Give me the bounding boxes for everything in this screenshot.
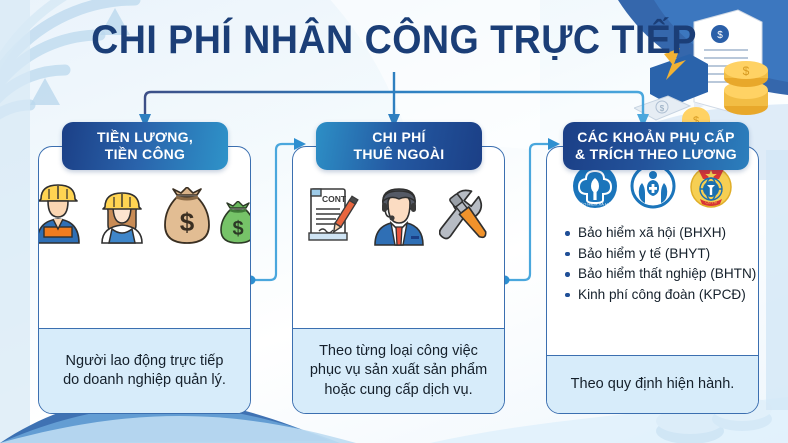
svg-text:$: $ (660, 104, 665, 113)
support-agent-icon (369, 181, 429, 247)
svg-text:BẢO HIỂM XÃ HỘI: BẢO HIỂM XÃ HỘI (577, 202, 611, 207)
card-header-phu-cap-text: CÁC KHOẢN PHỤ CẤP & TRÍCH THEO LƯƠNG (575, 129, 737, 163)
svg-text:$: $ (179, 207, 194, 237)
svg-text:CĐVN: CĐVN (705, 200, 716, 205)
list-item: Kinh phí công đoàn (KPCĐ) (565, 285, 756, 306)
card-thue-ngoai-footer: Theo từng loại công việc phục vụ sản xuấ… (293, 328, 504, 413)
card-phu-cap: BẢO HIỂM XÃ HỘI (546, 146, 759, 414)
card-header-thue-ngoai-text: CHI PHÍ THUÊ NGOÀI (354, 129, 445, 163)
list-item: Bảo hiểm thất nghiệp (BHTN) (565, 264, 756, 285)
svg-text:CONT: CONT (321, 194, 346, 204)
page-title: CHI PHÍ NHÂN CÔNG TRỰC TIẾP (24, 18, 765, 63)
male-worker-icon (38, 181, 85, 245)
list-item: Bảo hiểm y tế (BHYT) (565, 244, 756, 265)
card-phu-cap-footer: Theo quy định hiện hành. (547, 355, 758, 413)
card-tien-luong-body: $ $ (39, 147, 250, 328)
svg-text:$: $ (743, 64, 750, 78)
card-thue-ngoai-icons: CONT (303, 181, 495, 247)
card-header-tien-luong: TIỀN LƯƠNG, TIỀN CÔNG (62, 122, 228, 170)
female-worker-icon (95, 181, 149, 245)
card-tien-luong-icons: $ $ (38, 181, 251, 245)
card-thue-ngoai: CONT (292, 146, 505, 414)
card-phu-cap-body: BẢO HIỂM XÃ HỘI (547, 147, 758, 355)
svg-text:$: $ (232, 218, 243, 240)
card-tien-luong-footer: Người lao động trực tiếp do doanh nghiệp… (39, 328, 250, 413)
card-thue-ngoai-body: CONT (293, 147, 504, 328)
contract-document-icon: CONT (303, 183, 359, 247)
card-header-phu-cap: CÁC KHOẢN PHỤ CẤP & TRÍCH THEO LƯƠNG (563, 122, 749, 170)
money-bag-tan-icon: $ (159, 187, 215, 245)
list-item: Bảo hiểm xã hội (BHXH) (565, 223, 756, 244)
card-thue-ngoai-footer-text: Theo từng loại công việc phục vụ sản xuấ… (310, 342, 487, 399)
infographic-canvas: $ $ $ (0, 0, 788, 443)
card-tien-luong: $ $ Người lao động trực tiếp do doanh ng… (38, 146, 251, 414)
card-header-thue-ngoai: CHI PHÍ THUÊ NGOÀI (316, 122, 482, 170)
tools-wrench-screwdriver-icon (439, 187, 495, 247)
card-phu-cap-footer-text: Theo quy định hiện hành. (571, 375, 735, 394)
card-tien-luong-footer-text: Người lao động trực tiếp do doanh nghiệp… (63, 352, 226, 390)
money-bag-green-icon: $ (217, 201, 252, 245)
card-header-tien-luong-text: TIỀN LƯƠNG, TIỀN CÔNG (97, 129, 193, 163)
card-phu-cap-bullet-list: Bảo hiểm xã hội (BHXH) Bảo hiểm y tế (BH… (547, 223, 756, 306)
